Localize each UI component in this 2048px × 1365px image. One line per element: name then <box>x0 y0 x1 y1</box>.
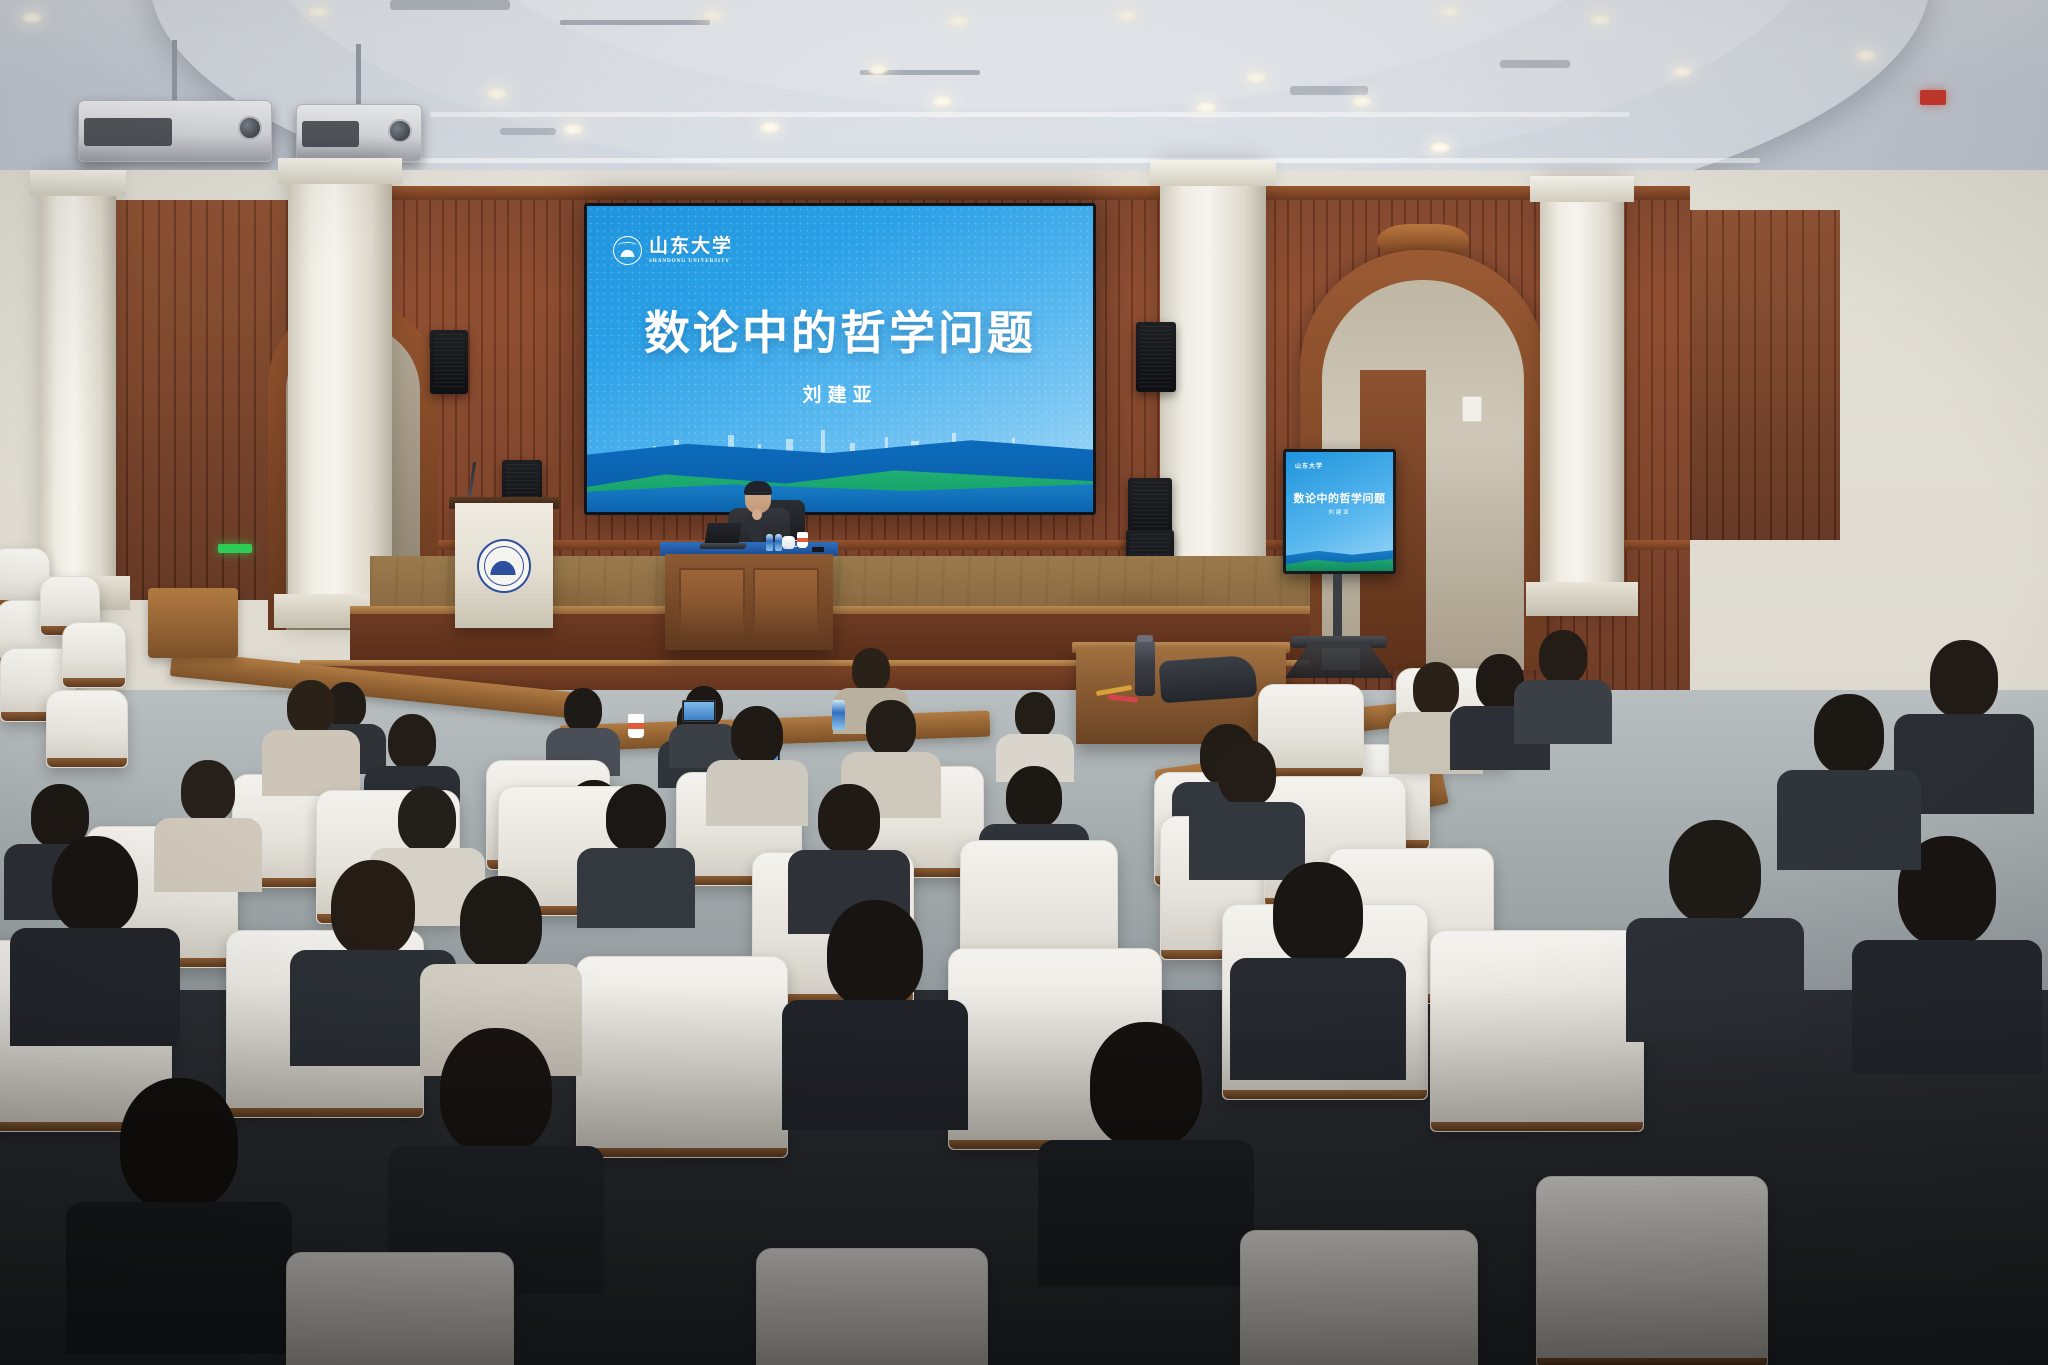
downlight <box>1856 50 1876 61</box>
person-head <box>818 784 880 854</box>
person-torso <box>66 1202 292 1354</box>
downlight <box>1246 72 1266 83</box>
water-bottle <box>766 534 773 551</box>
audience-person-foreground <box>1636 820 1794 1030</box>
downlight <box>948 16 968 27</box>
slide-surface: 山东大学 SHANDONG UNIVERSITY 数论中的哲学问题 刘建亚 <box>587 206 1093 512</box>
audience-person <box>1196 740 1298 876</box>
smartphone-raised[interactable] <box>682 700 716 722</box>
person-torso <box>10 928 180 1046</box>
person-head <box>731 706 783 764</box>
downlight <box>1440 6 1460 17</box>
downlight <box>703 10 723 21</box>
projector-right <box>296 104 420 160</box>
downlight <box>22 12 42 23</box>
person-torso <box>706 760 808 826</box>
person-head <box>52 836 138 934</box>
person-torso <box>577 848 695 928</box>
pillar-capital <box>1150 160 1276 186</box>
person-head <box>440 1028 552 1154</box>
aisle-post <box>148 588 238 658</box>
person-head <box>181 760 235 822</box>
person-head <box>852 648 890 692</box>
audience-person-foreground <box>76 1078 282 1340</box>
teapot <box>782 536 795 549</box>
person-torso <box>1230 958 1406 1080</box>
projector-panel <box>84 118 172 146</box>
university-logo: 山东大学 SHANDONG UNIVERSITY <box>613 236 733 265</box>
loudspeaker-upper-right <box>1136 322 1176 392</box>
audience-person <box>584 784 688 924</box>
person-head <box>120 1078 238 1210</box>
wall-panel-left <box>110 200 290 600</box>
wall-panel-right <box>1690 210 1840 540</box>
person-head <box>1814 694 1884 774</box>
desk-panel-right <box>753 568 819 634</box>
person-torso <box>782 1000 968 1130</box>
audience-person-foreground <box>1048 1022 1244 1272</box>
person-head <box>827 900 923 1008</box>
audience-person <box>160 760 256 888</box>
led-wall-screen[interactable]: 山东大学 SHANDONG UNIVERSITY 数论中的哲学问题 刘建亚 <box>584 203 1096 515</box>
coffee-cup <box>797 532 808 548</box>
person-torso <box>1852 940 2042 1074</box>
monitor-stand-pole <box>1333 574 1342 644</box>
thermos-flask <box>1135 640 1155 696</box>
seat[interactable] <box>756 1248 988 1365</box>
person-torso <box>1514 680 1612 744</box>
person-head <box>1090 1022 1202 1148</box>
pillar-far-right <box>1540 176 1624 616</box>
shandong-university-emblem-icon <box>477 539 531 593</box>
downlight <box>932 96 952 107</box>
seat[interactable] <box>286 1252 514 1365</box>
monitor-title: 数论中的哲学问题 <box>1286 490 1393 506</box>
pillar-capital <box>278 158 402 184</box>
person-torso <box>1038 1140 1254 1286</box>
monitor-speaker: 刘建亚 <box>1286 508 1393 516</box>
person-head <box>1006 766 1062 828</box>
monitor-screen: 山东大学 数论中的哲学问题 刘建亚 <box>1286 452 1393 571</box>
person-head <box>1669 820 1761 924</box>
cup-on-rail <box>628 714 644 738</box>
desk-panel-left <box>679 568 745 634</box>
shandong-university-seal-icon <box>613 236 642 265</box>
downlight <box>1430 142 1450 153</box>
downlight <box>760 122 780 133</box>
slide-footer-graphic <box>587 402 1093 512</box>
seat-empty[interactable] <box>62 622 126 688</box>
logo-chinese-name: 山东大学 <box>649 237 733 256</box>
audience-person <box>712 706 802 822</box>
seat[interactable] <box>576 956 788 1158</box>
projector-panel <box>302 121 359 147</box>
audience-person <box>268 680 354 792</box>
person-head <box>388 714 436 770</box>
person-head <box>1539 630 1587 684</box>
person-torso <box>262 730 360 796</box>
water-bottle <box>775 534 782 551</box>
slide-title: 数论中的哲学问题 <box>587 310 1093 356</box>
loudspeaker-upper-left <box>430 330 468 394</box>
audience-person <box>1000 692 1070 776</box>
ceiling-vent <box>390 0 510 10</box>
person-head <box>398 786 456 852</box>
downlight <box>487 88 507 99</box>
ceiling-slot <box>560 20 710 25</box>
ceiling-vent <box>1500 60 1570 68</box>
ceiling-vent <box>1290 86 1368 95</box>
lecture-hall-photo: 山东大学 SHANDONG UNIVERSITY 数论中的哲学问题 刘建亚 <box>0 0 2048 1365</box>
audience-person <box>1520 630 1606 740</box>
person-head <box>564 688 602 732</box>
person-torso <box>1777 770 1921 870</box>
lectern-podium <box>455 503 553 628</box>
person-head <box>1218 740 1276 806</box>
wall-switch-plate[interactable] <box>1462 396 1482 422</box>
downlight <box>1672 66 1692 77</box>
confidence-monitor[interactable]: 山东大学 数论中的哲学问题 刘建亚 <box>1283 449 1396 574</box>
emblem-ring <box>484 546 524 586</box>
presenter-desk <box>665 554 833 650</box>
pillar-far-left <box>40 170 116 610</box>
person-head <box>866 700 916 756</box>
person-head <box>606 784 666 852</box>
audience-person-foreground <box>792 900 958 1120</box>
downlight <box>563 124 583 135</box>
person-head <box>460 876 542 970</box>
projector-lens-icon <box>238 116 262 140</box>
av-rack-indicator <box>218 544 252 553</box>
downlight <box>1117 10 1137 21</box>
pillar-capital <box>1530 176 1634 202</box>
seat[interactable] <box>1430 930 1644 1132</box>
person-torso <box>154 818 262 892</box>
phone-screen <box>684 702 714 720</box>
seat-empty[interactable] <box>46 690 128 768</box>
downlight <box>1352 96 1372 107</box>
seat[interactable] <box>1536 1176 1768 1365</box>
person-torso <box>1626 918 1804 1042</box>
downlight <box>1196 102 1216 113</box>
person-head <box>287 680 335 734</box>
audience-person <box>1904 640 2024 810</box>
presenter-hand <box>752 509 762 520</box>
logo-english-name: SHANDONG UNIVERSITY <box>649 258 733 264</box>
pillar-capital <box>30 170 126 196</box>
person-head <box>1273 862 1363 964</box>
presenter-glasses-icon <box>747 492 769 498</box>
wall-trim-top <box>390 186 1690 200</box>
pillar-base <box>1526 582 1638 616</box>
projector-lens-icon <box>388 119 412 143</box>
audience-person-foreground <box>20 836 170 1036</box>
audience-person <box>548 688 618 768</box>
audience-person-foreground <box>1240 862 1396 1070</box>
projector-left <box>78 100 270 160</box>
projector-mount-rod <box>356 44 361 106</box>
monitor-logo: 山东大学 <box>1295 461 1323 470</box>
audience-person-foreground <box>398 1028 594 1280</box>
person-head <box>1930 640 1998 718</box>
ceiling-vent <box>500 128 556 135</box>
presenter-laptop[interactable] <box>704 523 741 545</box>
exit-sign <box>1920 90 1946 105</box>
ceiling-cove-light-2 <box>300 158 1760 163</box>
projector-mount-rod <box>172 40 177 102</box>
person-head <box>1413 662 1459 716</box>
ceiling-cove-light <box>430 112 1630 117</box>
folded-coat <box>1159 655 1258 704</box>
laptop-keyboard-base[interactable] <box>699 543 747 549</box>
downlight <box>1590 14 1610 25</box>
downlight <box>308 6 328 17</box>
seat[interactable] <box>1240 1230 1478 1365</box>
person-head <box>1015 692 1055 738</box>
water-bottle-on-rail <box>832 700 845 730</box>
person-head <box>331 860 415 956</box>
downlight <box>868 64 888 75</box>
phone-on-desk[interactable] <box>812 547 824 552</box>
audience-person <box>1786 694 1912 866</box>
